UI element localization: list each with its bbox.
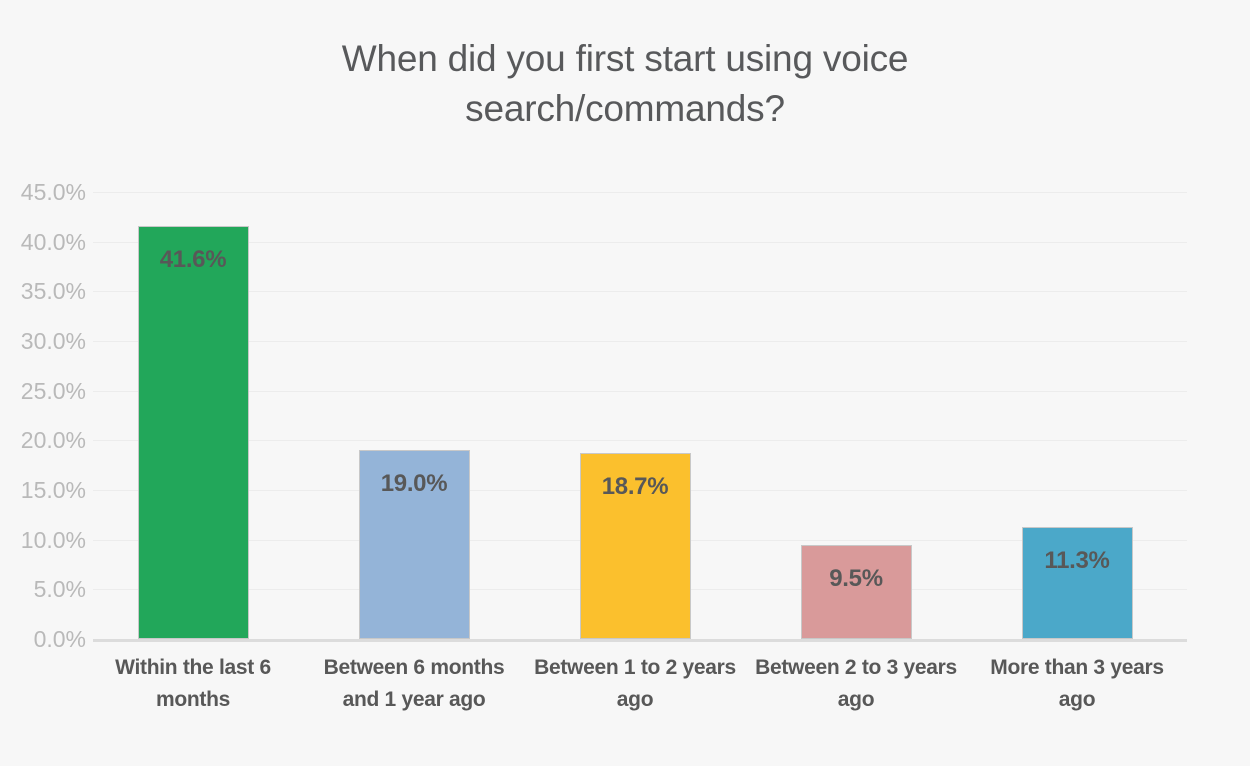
y-axis-tick-label: 20.0% [0,429,86,452]
y-axis-tick-label: 25.0% [0,380,86,403]
y-axis-tick-label: 40.0% [0,231,86,254]
plot-area: 45.0%40.0%35.0%30.0%25.0%20.0%15.0%10.0%… [0,0,1250,766]
x-axis-category-label: Between 1 to 2 years ago [530,652,740,716]
x-axis-category-label: Within the last 6 months [88,652,298,716]
x-axis-category-label: Between 2 to 3 years ago [751,652,961,716]
bar-value-label: 11.3% [1023,547,1132,575]
bar[interactable]: 9.5% [801,545,912,639]
bar-value-label: 19.0% [360,470,469,498]
bar-value-label: 18.7% [581,473,690,501]
y-axis-tick-label: 0.0% [0,628,86,651]
bar[interactable]: 41.6% [138,226,249,639]
gridline [93,440,1187,441]
gridline [93,391,1187,392]
y-axis-tick-label: 5.0% [0,578,86,601]
gridline [93,341,1187,342]
bar[interactable]: 19.0% [359,450,470,639]
y-axis-tick-label: 35.0% [0,280,86,303]
y-axis-tick-label: 10.0% [0,529,86,552]
bar[interactable]: 11.3% [1022,527,1133,639]
bar-chart: When did you first start using voicesear… [0,0,1250,766]
x-axis-category-label: Between 6 months and 1 year ago [309,652,519,716]
bar-value-label: 41.6% [139,246,248,274]
y-axis-tick-label: 30.0% [0,330,86,353]
gridline [93,192,1187,193]
y-axis-tick-label: 45.0% [0,181,86,204]
y-axis-tick-label: 15.0% [0,479,86,502]
x-axis-line [93,639,1187,642]
bar[interactable]: 18.7% [580,453,691,639]
x-axis-category-label: More than 3 years ago [972,652,1182,716]
gridline [93,242,1187,243]
bar-value-label: 9.5% [802,565,911,593]
gridline [93,291,1187,292]
